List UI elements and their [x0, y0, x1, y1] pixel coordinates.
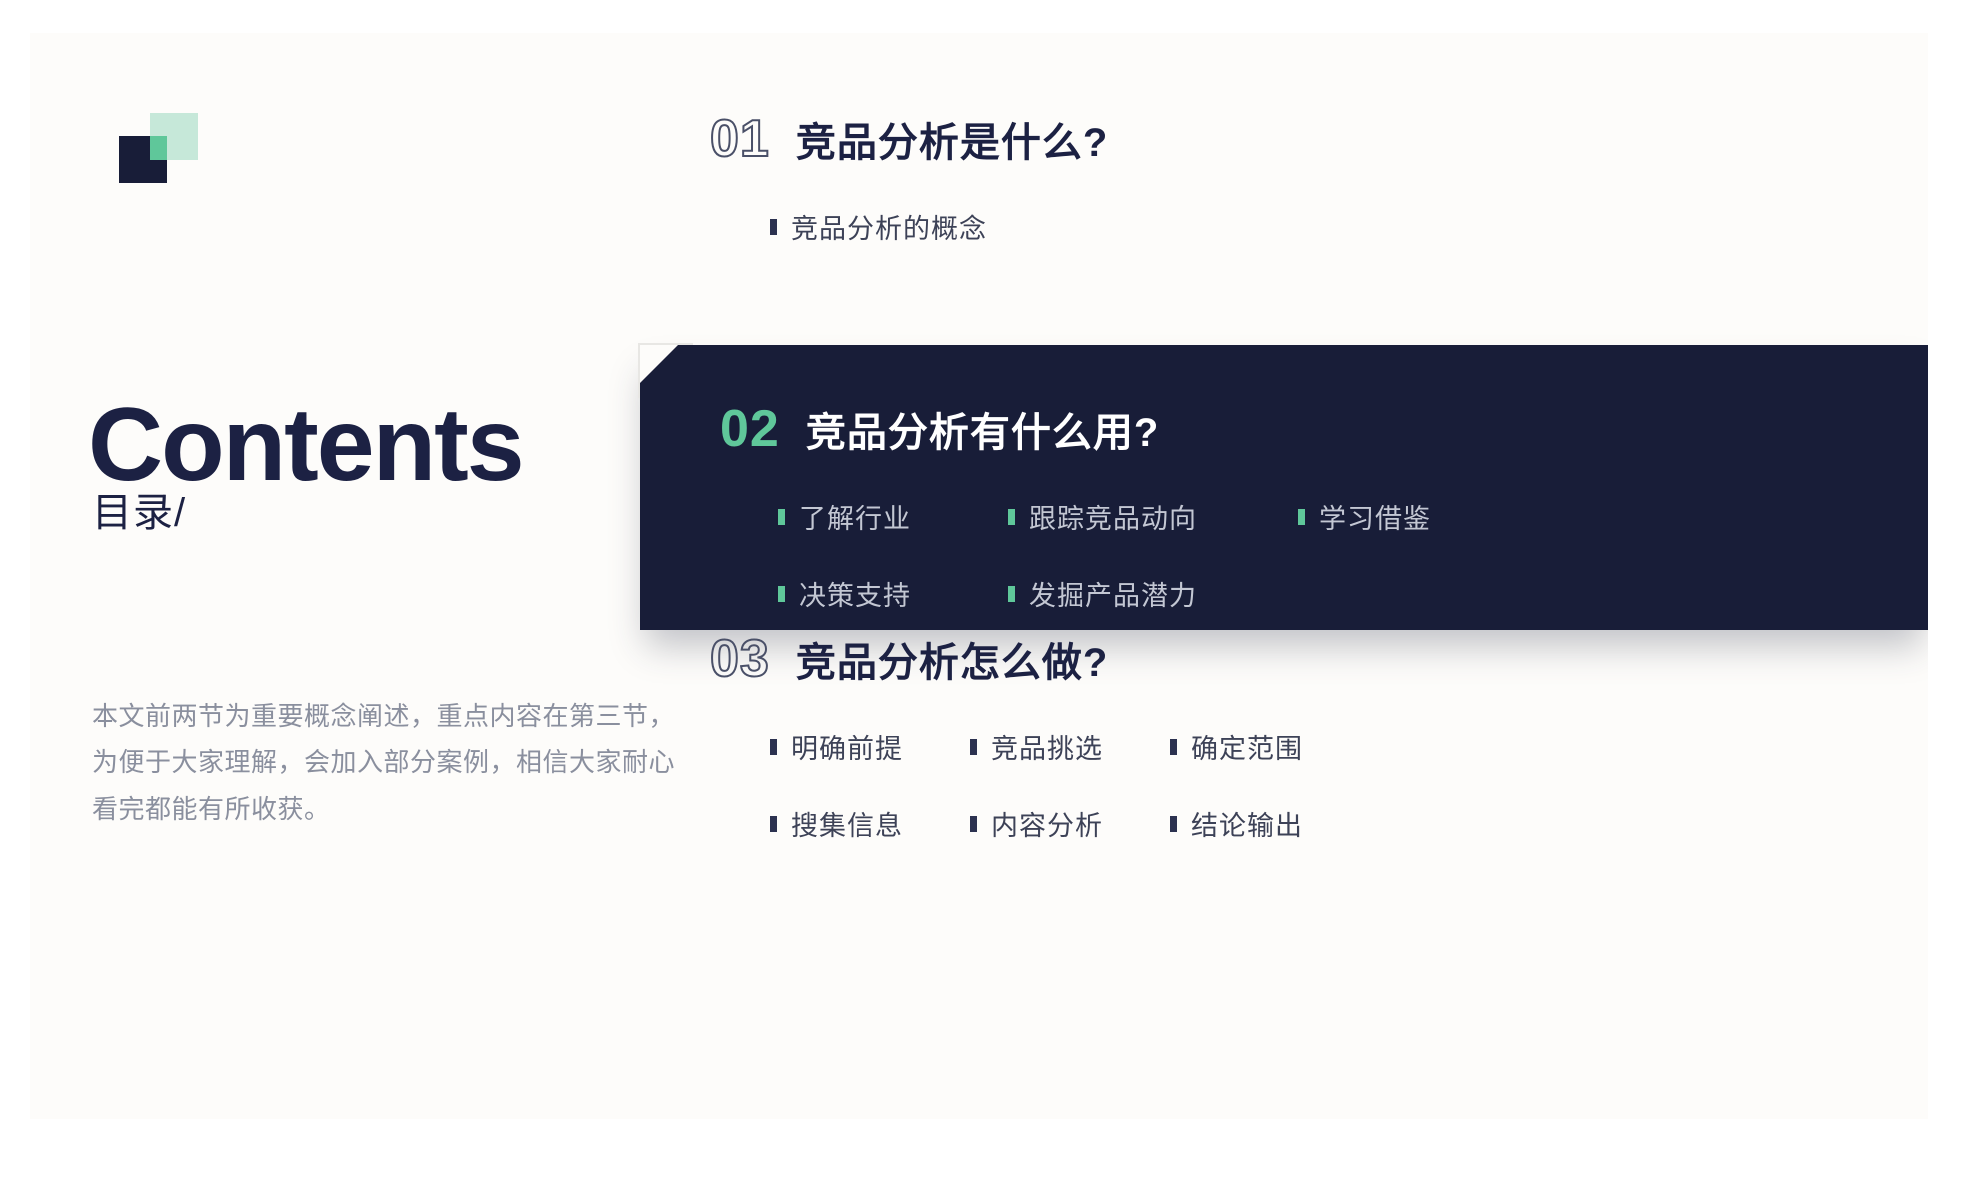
list-item[interactable]: 学习借鉴	[1298, 497, 1431, 536]
section-03[interactable]: 03 竞品分析怎么做? 明确前提 竞品挑选 确定范围 搜集信息 内容分析	[710, 633, 1303, 843]
list-item[interactable]: 竞品挑选	[970, 727, 1170, 766]
brand-logo	[105, 113, 245, 223]
square-bullet-icon	[770, 739, 777, 755]
slide-canvas: Contents 目录/ 本文前两节为重要概念阐述，重点内容在第三节， 为便于大…	[30, 33, 1928, 1119]
page-description: 本文前两节为重要概念阐述，重点内容在第三节， 为便于大家理解，会加入部分案例，相…	[92, 693, 652, 832]
square-bullet-icon	[778, 509, 785, 525]
list-item-label: 跟踪竞品动向	[1029, 497, 1197, 536]
list-item[interactable]: 内容分析	[970, 804, 1170, 843]
section-03-header: 03 竞品分析怎么做?	[710, 633, 1303, 685]
section-02: 02 竞品分析有什么用? 了解行业 跟踪竞品动向 学习借鉴 决	[720, 403, 1431, 613]
section-01-number: 01	[710, 113, 770, 165]
section-01-title: 竞品分析是什么?	[796, 123, 1108, 163]
square-bullet-icon	[1170, 739, 1177, 755]
square-bullet-icon	[1298, 509, 1305, 525]
list-item-label: 确定范围	[1191, 727, 1303, 766]
page-subtitle: 目录/	[92, 493, 186, 533]
list-item-label: 搜集信息	[791, 804, 903, 843]
square-bullet-icon	[970, 739, 977, 755]
list-item-label: 竞品分析的概念	[791, 207, 987, 246]
list-item-label: 决策支持	[799, 574, 911, 613]
logo-overlap-square	[150, 136, 167, 160]
list-item-label: 结论输出	[1191, 804, 1303, 843]
list-item-label: 明确前提	[791, 727, 903, 766]
list-item[interactable]: 结论输出	[1170, 804, 1303, 843]
section-02-number: 02	[720, 403, 780, 455]
section-01[interactable]: 01 竞品分析是什么? 竞品分析的概念	[710, 113, 1290, 246]
list-item[interactable]: 明确前提	[770, 727, 970, 766]
list-item[interactable]: 搜集信息	[770, 804, 970, 843]
list-item-label: 竞品挑选	[991, 727, 1103, 766]
square-bullet-icon	[1008, 586, 1015, 602]
square-bullet-icon	[1008, 509, 1015, 525]
square-bullet-icon	[1170, 816, 1177, 832]
square-bullet-icon	[970, 816, 977, 832]
list-item[interactable]: 决策支持	[778, 574, 1008, 613]
list-item-label: 了解行业	[799, 497, 911, 536]
page-title: Contents	[88, 393, 523, 497]
list-item[interactable]: 发掘产品潜力	[1008, 574, 1298, 613]
section-02-title: 竞品分析有什么用?	[806, 413, 1159, 453]
description-line: 看完都能有所收获。	[92, 786, 652, 832]
section-03-bullets: 明确前提 竞品挑选 确定范围 搜集信息 内容分析 结论输出	[770, 727, 1303, 843]
section-03-title: 竞品分析怎么做?	[796, 643, 1108, 683]
section-03-number: 03	[710, 633, 770, 685]
corner-fold-icon	[640, 345, 678, 383]
section-01-header: 01 竞品分析是什么?	[710, 113, 1290, 165]
section-02-bullets: 了解行业 跟踪竞品动向 学习借鉴 决策支持 发掘产品潜力	[778, 497, 1431, 613]
list-item[interactable]: 了解行业	[778, 497, 1008, 536]
square-bullet-icon	[778, 586, 785, 602]
description-line: 为便于大家理解，会加入部分案例，相信大家耐心	[92, 739, 652, 785]
list-item-label: 学习借鉴	[1319, 497, 1431, 536]
list-item-label: 发掘产品潜力	[1029, 574, 1197, 613]
list-item-label: 内容分析	[991, 804, 1103, 843]
square-bullet-icon	[770, 816, 777, 832]
list-item[interactable]: 确定范围	[1170, 727, 1303, 766]
list-item[interactable]: 跟踪竞品动向	[1008, 497, 1298, 536]
square-bullet-icon	[770, 219, 777, 235]
section-02-header: 02 竞品分析有什么用?	[720, 403, 1431, 455]
section-01-bullets: 竞品分析的概念	[770, 207, 1290, 246]
list-item[interactable]: 竞品分析的概念	[770, 207, 1000, 246]
description-line: 本文前两节为重要概念阐述，重点内容在第三节，	[92, 693, 652, 739]
section-02-card[interactable]: 02 竞品分析有什么用? 了解行业 跟踪竞品动向 学习借鉴 决	[640, 345, 1928, 630]
